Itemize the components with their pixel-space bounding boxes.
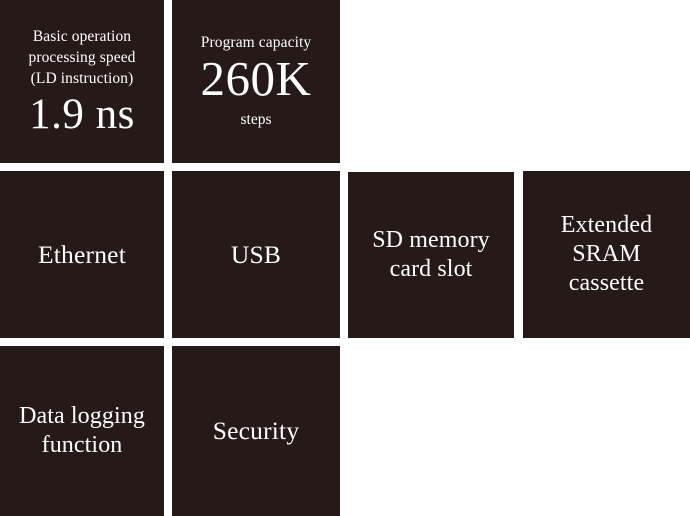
tile-capacity-unit: steps bbox=[241, 110, 272, 130]
tile-sd-memory-card-slot[interactable]: SD memory card slot bbox=[348, 172, 514, 338]
tile-speed-value: 1.9 ns bbox=[29, 93, 135, 137]
tile-sram-label-line-2: SRAM bbox=[572, 241, 640, 267]
tile-extended-sram-cassette[interactable]: Extended SRAM cassette bbox=[523, 171, 690, 338]
tile-sram-label-line-1: Extended bbox=[561, 212, 652, 238]
tile-ethernet[interactable]: Ethernet bbox=[0, 171, 164, 338]
tile-security[interactable]: Security bbox=[172, 346, 340, 516]
tile-usb-label: USB bbox=[225, 240, 287, 270]
tile-speed-caption-line-2: processing speed bbox=[28, 49, 135, 66]
tile-security-label: Security bbox=[207, 416, 306, 446]
tile-speed-caption-line-3: (LD instruction) bbox=[31, 70, 134, 87]
tile-datalog-label: Data logging function bbox=[13, 402, 151, 460]
tile-ethernet-label: Ethernet bbox=[32, 240, 132, 270]
tile-speed-caption-line-1: Basic operation bbox=[33, 28, 131, 45]
tile-program-capacity[interactable]: Program capacity 260K steps bbox=[172, 0, 340, 163]
tile-sram-label: Extended SRAM cassette bbox=[555, 211, 658, 297]
tile-datalog-label-line-2: function bbox=[42, 432, 123, 458]
tile-sd-label-line-1: SD memory bbox=[372, 227, 490, 253]
tile-data-logging-function[interactable]: Data logging function bbox=[0, 346, 164, 516]
tile-capacity-caption: Program capacity bbox=[196, 32, 317, 53]
tile-basic-operation-processing-speed[interactable]: Basic operation processing speed (LD ins… bbox=[0, 0, 164, 163]
tile-usb[interactable]: USB bbox=[172, 171, 340, 338]
tile-sram-label-line-3: cassette bbox=[569, 270, 644, 296]
tile-capacity-value: 260K bbox=[201, 54, 312, 103]
feature-tile-grid: Basic operation processing speed (LD ins… bbox=[0, 0, 690, 516]
tile-datalog-label-line-1: Data logging bbox=[19, 403, 145, 429]
tile-speed-caption: Basic operation processing speed (LD ins… bbox=[23, 26, 140, 89]
tile-sd-label-line-2: card slot bbox=[390, 256, 473, 282]
tile-sd-label: SD memory card slot bbox=[366, 226, 496, 284]
